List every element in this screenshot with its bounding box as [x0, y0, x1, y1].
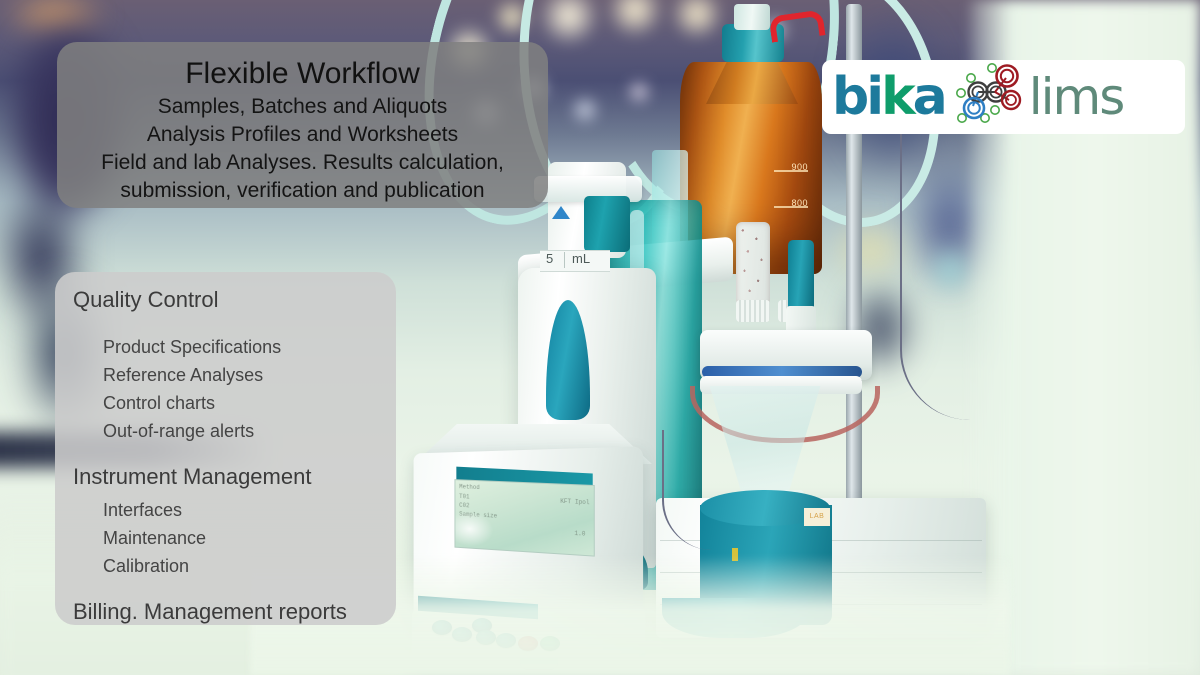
dispenser-valve-knob	[584, 196, 630, 252]
lcd-line-c02: C02	[459, 502, 469, 509]
lcd-line-method: Method	[459, 483, 480, 491]
vial-cap-left	[736, 300, 770, 322]
headline-subtitle-line-1: Samples, Batches and Aliquots	[71, 93, 534, 121]
burette-volume-value: 5	[546, 251, 553, 266]
headline-subtitle-line-3: Field and lab Analyses. Results calculat…	[71, 149, 534, 177]
list-item: Out-of-range alerts	[103, 417, 378, 445]
console-lcd-display: Method T01 C02 Sample size KFT Ipol 1.0	[454, 479, 594, 556]
list-item: Interfaces	[103, 496, 378, 524]
burette-volume-unit: mL	[572, 251, 590, 266]
list-item: Reference Analyses	[103, 361, 378, 389]
bottle-graduation-label-upper: 900	[791, 162, 808, 172]
headline-subtitle-line-2: Analysis Profiles and Worksheets	[71, 121, 534, 149]
wordmark-letter-a: a	[913, 71, 945, 123]
bika-wordmark: bika	[832, 71, 945, 123]
lcd-line-value: 1.0	[574, 530, 585, 538]
slide-canvas: 900 800 5 mL	[0, 0, 1200, 675]
lcd-line-kft-mode: KFT Ipol	[560, 498, 589, 507]
section-heading-instrument-management: Instrument Management	[73, 463, 378, 492]
wordmark-letter-i: i	[866, 71, 881, 123]
section-heading-billing-reports: Billing. Management reports	[73, 598, 378, 627]
lcd-line-t01: T01	[459, 493, 469, 500]
spacer-before-footer	[73, 580, 378, 596]
quality-control-list: Product Specifications Reference Analyse…	[73, 333, 378, 445]
headline-title: Flexible Workflow	[71, 56, 534, 91]
section-heading-quality-control: Quality Control	[73, 286, 378, 315]
bottle-neck	[734, 4, 770, 30]
list-item: Product Specifications	[103, 333, 378, 361]
spacer-between-sections	[73, 445, 378, 461]
titration-vessel	[702, 386, 828, 504]
molecule-icon	[951, 62, 1023, 133]
volume-label-separator	[564, 252, 565, 268]
bottle-graduation-label-lower: 800	[791, 198, 808, 208]
list-item: Maintenance	[103, 524, 378, 552]
lims-wordmark: lims	[1029, 72, 1124, 122]
red-tube-clip-icon	[768, 9, 825, 42]
valve-direction-triangle-icon	[552, 206, 570, 219]
spacer-after-quality-control-heading	[73, 315, 378, 329]
wordmark-letter-b: b	[832, 71, 866, 123]
headline-subtitle-line-4: submission, verification and publication	[71, 177, 534, 205]
list-item: Calibration	[103, 552, 378, 580]
wordmark-letter-k: k	[881, 71, 913, 123]
lcd-line-sample-size: Sample size	[459, 511, 497, 520]
headline-card: Flexible Workflow Samples, Batches and A…	[57, 42, 548, 208]
instrument-management-list: Interfaces Maintenance Calibration	[73, 496, 378, 580]
desiccant-vial	[736, 222, 770, 306]
features-card: Quality Control Product Specifications R…	[55, 272, 396, 625]
lab-asset-tag: LAB	[804, 508, 830, 526]
bika-lims-logo[interactable]: bika	[822, 60, 1185, 134]
probe-cable	[900, 120, 972, 420]
list-item: Control charts	[103, 389, 378, 417]
